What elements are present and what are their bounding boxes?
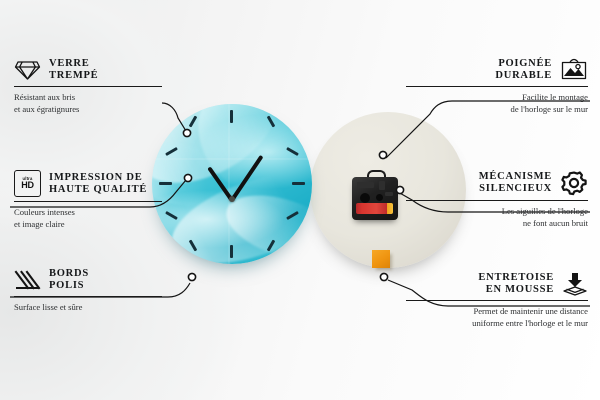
divider [14,201,162,202]
callout-entretoise-en-mousse: ENTRETOISE EN MOUSSE Permet de maintenir… [406,272,588,330]
callout-body: Les aiguilles de l'horloge ne font aucun… [406,205,588,230]
hour-tick-6 [230,245,233,258]
callout-impression-haute-qualite: ultra HD IMPRESSION DE HAUTE QUALITÉ Cou… [14,170,196,231]
callout-title-line2: TREMPÉ [49,70,98,82]
wall-hanger-icon [560,58,588,82]
callout-title-line1: IMPRESSION DE [49,172,147,184]
callout-title-line1: BORDS [49,268,89,280]
infographic-canvas: VERRE TREMPÉ Résistant aux bris et aux é… [0,0,600,400]
gear-icon [560,170,588,196]
polished-edges-icon [14,269,41,291]
foam-spacer-icon [562,272,588,296]
callout-mecanisme-silencieux: MÉCANISME SILENCIEUX Les aiguilles de l'… [406,170,588,230]
hour-tick-12 [230,110,233,123]
foam-spacer [372,250,390,268]
leader-endpoint [380,273,387,280]
callout-title-line1: ENTRETOISE [478,272,554,284]
callout-poignee-durable: POIGNÉE DURABLE Facilite le montage de l… [406,58,588,116]
battery [356,203,393,214]
callout-title-line2: POLIS [49,280,89,292]
callout-title-line2: DURABLE [495,70,552,82]
panel-seam [152,158,312,160]
callout-body: Surface lisse et sûre [14,301,196,313]
callout-title-line2: SILENCIEUX [479,183,552,195]
callout-title-line2: HAUTE QUALITÉ [49,184,147,196]
divider [406,300,588,301]
callout-bords-polis: BORDS POLIS Surface lisse et sûre [14,268,196,313]
diamond-icon [14,59,41,81]
panel-seam [228,104,230,264]
callout-body: Résistant aux bris et aux égratignures [14,91,196,116]
callout-title-line1: POIGNÉE [495,58,552,70]
callout-body: Couleurs intenses et image claire [14,206,196,231]
divider [14,296,162,297]
callout-body: Permet de maintenir une distance uniform… [406,305,588,330]
callout-title-line1: MÉCANISME [479,171,552,183]
callout-body: Facilite le montage de l'horloge sur le … [406,91,588,116]
ultra-hd-icon: ultra HD [14,170,41,197]
callout-verre-trempe: VERRE TREMPÉ Résistant aux bris et aux é… [14,58,196,115]
hour-tick-3 [292,182,305,185]
divider [406,86,588,87]
divider [14,86,162,87]
divider [406,200,588,201]
callout-title-line1: VERRE [49,58,98,70]
hand-center-cap [229,196,235,202]
callout-title-line2: EN MOUSSE [478,284,554,296]
badge-hd-label: HD [21,181,33,190]
